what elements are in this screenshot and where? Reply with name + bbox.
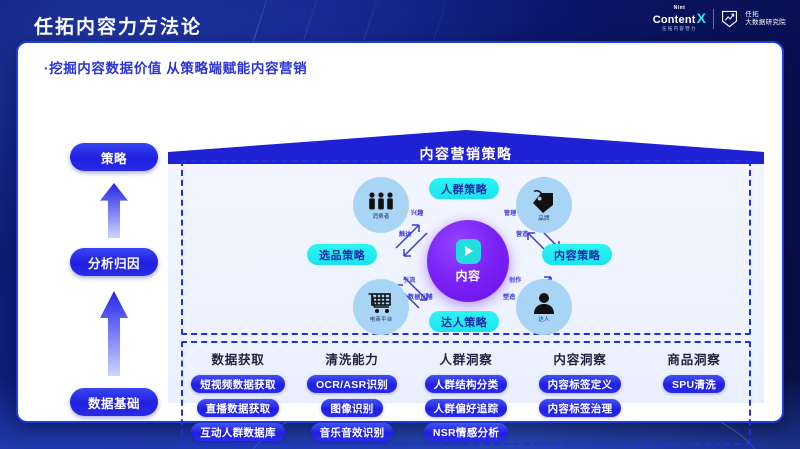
brand-logo: Nint ContentX 任拓内容营力 任拓 大数据研究院 — [653, 6, 786, 32]
strategy-pill-crowd[interactable]: 人群策略 — [429, 178, 499, 199]
capability-column-header: 人群洞察 — [439, 349, 492, 368]
node-brand-label: 品牌 — [538, 214, 549, 222]
capability-column-header: 数据获取 — [211, 349, 264, 368]
capability-grid: 数据获取 短视频数据获取 直播数据获取 互动人群数据库 清洗能力 OCR/ASR… — [181, 343, 751, 447]
flow-label-shape: 塑造 — [503, 292, 515, 301]
capability-item[interactable]: 音乐音效识别 — [311, 423, 394, 441]
flow-label-create: 创作 — [509, 275, 521, 284]
capability-item[interactable]: OCR/ASR识别 — [307, 375, 397, 393]
ladder-step-strategy[interactable]: 策略 — [70, 143, 158, 171]
card-subtitle: ·挖掘内容数据价值 从策略端赋能内容营销 — [44, 57, 307, 77]
flow-label-manage: 管理 — [504, 208, 516, 217]
price-tag-icon — [531, 189, 557, 213]
logo-content-word: Content — [653, 15, 696, 26]
capability-item[interactable]: 互动人群数据库 — [191, 423, 285, 441]
flow-label-reach: 触达 — [399, 229, 411, 238]
page-title: 任拓内容力方法论 — [34, 12, 202, 39]
capability-column: 清洗能力 OCR/ASR识别 图像识别 音乐音效识别 — [295, 343, 409, 447]
capability-item[interactable]: NSR情感分析 — [424, 423, 508, 441]
capability-item[interactable]: 图像识别 — [321, 399, 382, 417]
node-kol[interactable]: 达人 — [516, 279, 572, 335]
logo-content-sub: 任拓内容营力 — [653, 27, 707, 32]
flow-label-build: 营造 — [516, 229, 528, 238]
capability-column-header: 商品洞察 — [667, 349, 720, 368]
capability-column-header: 内容洞察 — [553, 349, 606, 368]
slide-root: 任拓内容力方法论 Nint ContentX 任拓内容营力 任拓 大数据研究院 … — [0, 0, 800, 449]
shopping-cart-icon — [367, 292, 395, 314]
person-icon — [532, 292, 556, 314]
strategy-pill-kol[interactable]: 达人策略 — [429, 311, 499, 332]
hub-label: 内容 — [455, 267, 480, 284]
capability-item[interactable]: 短视频数据获取 — [191, 375, 285, 393]
capability-item[interactable]: 直播数据获取 — [197, 399, 280, 417]
flow-label-traffic: 引流 — [403, 275, 415, 284]
contentx-logo: Nint ContentX 任拓内容营力 — [653, 6, 707, 32]
capability-item[interactable]: 人群结构分类 — [425, 375, 508, 393]
ladder-step-data[interactable]: 数据基础 — [70, 388, 158, 416]
logo-divider — [713, 9, 714, 29]
node-consumer-label: 消费者 — [372, 212, 389, 220]
capability-item[interactable]: 内容标签治理 — [539, 399, 622, 417]
node-kol-label: 达人 — [538, 315, 549, 323]
strategy-pill-content[interactable]: 内容策略 — [542, 244, 612, 265]
chart-shield-icon — [721, 10, 738, 28]
capability-item[interactable]: 人群偏好追踪 — [425, 399, 508, 417]
up-arrow-icon — [98, 291, 130, 376]
flow-label-interest: 兴趣 — [411, 208, 423, 217]
play-button-icon — [456, 239, 481, 264]
capability-item[interactable]: SPU清洗 — [663, 375, 725, 393]
node-ecommerce-label: 电商平台 — [370, 315, 393, 323]
institute-name: 任拓 大数据研究院 — [745, 11, 786, 27]
capability-column: 数据获取 短视频数据获取 直播数据获取 互动人群数据库 — [181, 343, 295, 447]
capability-column: 人群洞察 人群结构分类 人群偏好追踪 NSR情感分析 — [409, 343, 523, 447]
flow-label-feedback: 数据反哺 — [408, 292, 433, 301]
up-arrow-icon — [98, 183, 130, 238]
capability-column: 内容洞察 内容标签定义 内容标签治理 — [523, 343, 637, 447]
institute-line1: 任拓 — [745, 11, 786, 19]
node-brand[interactable]: 品牌 — [516, 177, 572, 233]
capability-column-header: 清洗能力 — [325, 349, 378, 368]
strategy-pill-product[interactable]: 选品策略 — [307, 244, 377, 265]
content-card: ·挖掘内容数据价值 从策略端赋能内容营销 策略 分析归因 数据基础 内容营销策略 — [18, 43, 782, 421]
hub-content[interactable]: 内容 — [427, 220, 509, 302]
logo-x-word: X — [697, 11, 707, 25]
capability-item[interactable]: 内容标签定义 — [539, 375, 622, 393]
ladder-step-analysis[interactable]: 分析归因 — [70, 248, 158, 276]
node-ecommerce[interactable]: 电商平台 — [353, 279, 409, 335]
people-group-icon — [367, 191, 395, 211]
logo-contentx-text: ContentX — [653, 11, 707, 26]
capability-column: 商品洞察 SPU清洗 — [637, 343, 751, 447]
institute-line2: 大数据研究院 — [745, 19, 786, 27]
node-consumer[interactable]: 消费者 — [353, 177, 409, 233]
